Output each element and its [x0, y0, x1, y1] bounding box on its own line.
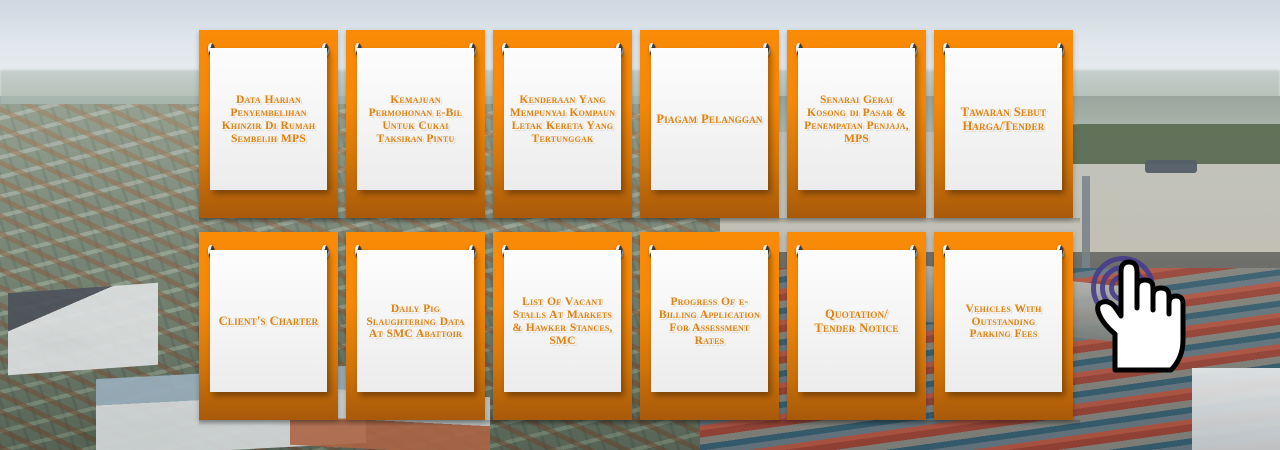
service-card-clients-charter[interactable]: Client's Charter [199, 232, 338, 420]
service-card-vehicles-outstanding-parking-fees[interactable]: Vehicles With Outstanding Parking Fees [934, 232, 1073, 420]
card-label: Quotation/ Tender Notice [803, 307, 910, 335]
card-label: Progress Of e-Billing Application For As… [656, 295, 763, 347]
service-card-quotation-tender-notice[interactable]: Quotation/ Tender Notice [787, 232, 926, 420]
row-1-shadow [199, 218, 1080, 224]
card-label: Senarai Gerai Kosong di Pasar & Penempat… [803, 93, 910, 145]
card-sheet: Senarai Gerai Kosong di Pasar & Penempat… [798, 48, 915, 190]
service-card-kemajuan-permohonan-e-bil[interactable]: Kemajuan Permohonan e-Bil Untuk Cukai Ta… [346, 30, 485, 218]
card-sheet: Quotation/ Tender Notice [798, 250, 915, 392]
service-card-progress-of-e-billing[interactable]: Progress Of e-Billing Application For As… [640, 232, 779, 420]
card-label: Kenderaan Yang Mempunyai Kompaun Letak K… [509, 93, 616, 145]
card-label: Daily Pig Slaughtering Data At SMC Abatt… [362, 302, 469, 341]
card-sheet: Kemajuan Permohonan e-Bil Untuk Cukai Ta… [357, 48, 474, 190]
service-card-daily-pig-slaughtering-data[interactable]: Daily Pig Slaughtering Data At SMC Abatt… [346, 232, 485, 420]
card-label: List Of Vacant Stalls At Markets & Hawke… [509, 295, 616, 347]
page-stage: Data Harian Penyembelihan Khinzir Di Rum… [0, 0, 1280, 450]
card-label: Data Harian Penyembelihan Khinzir Di Rum… [215, 93, 322, 145]
card-sheet: Piagam Pelanggan [651, 48, 768, 190]
service-card-tawaran-sebut-harga-tender[interactable]: Tawaran Sebut Harga/Tender [934, 30, 1073, 218]
service-card-data-harian-penyembelihan[interactable]: Data Harian Penyembelihan Khinzir Di Rum… [199, 30, 338, 218]
card-sheet: Vehicles With Outstanding Parking Fees [945, 250, 1062, 392]
service-card-piagam-pelanggan[interactable]: Piagam Pelanggan [640, 30, 779, 218]
card-sheet: Progress Of e-Billing Application For As… [651, 250, 768, 392]
card-sheet: List Of Vacant Stalls At Markets & Hawke… [504, 250, 621, 392]
card-label: Piagam Pelanggan [656, 112, 762, 126]
card-sheet: Data Harian Penyembelihan Khinzir Di Rum… [210, 48, 327, 190]
card-label: Kemajuan Permohonan e-Bil Untuk Cukai Ta… [362, 93, 469, 145]
service-card-kenderaan-kompaun-letak-kereta[interactable]: Kenderaan Yang Mempunyai Kompaun Letak K… [493, 30, 632, 218]
card-row-2: Client's Charter Daily Pig Slaughtering … [199, 232, 1080, 420]
service-card-list-of-vacant-stalls[interactable]: List Of Vacant Stalls At Markets & Hawke… [493, 232, 632, 420]
row-2-shadow [199, 420, 1080, 426]
card-sheet: Kenderaan Yang Mempunyai Kompaun Letak K… [504, 48, 621, 190]
card-row-1: Data Harian Penyembelihan Khinzir Di Rum… [199, 30, 1080, 218]
card-sheet: Client's Charter [210, 250, 327, 392]
card-sheet: Tawaran Sebut Harga/Tender [945, 48, 1062, 190]
service-card-senarai-gerai-kosong[interactable]: Senarai Gerai Kosong di Pasar & Penempat… [787, 30, 926, 218]
card-label: Client's Charter [219, 314, 319, 328]
card-sheet: Daily Pig Slaughtering Data At SMC Abatt… [357, 250, 474, 392]
service-card-grid: Data Harian Penyembelihan Khinzir Di Rum… [199, 30, 1080, 420]
card-label: Tawaran Sebut Harga/Tender [950, 105, 1057, 133]
card-label: Vehicles With Outstanding Parking Fees [950, 302, 1057, 341]
